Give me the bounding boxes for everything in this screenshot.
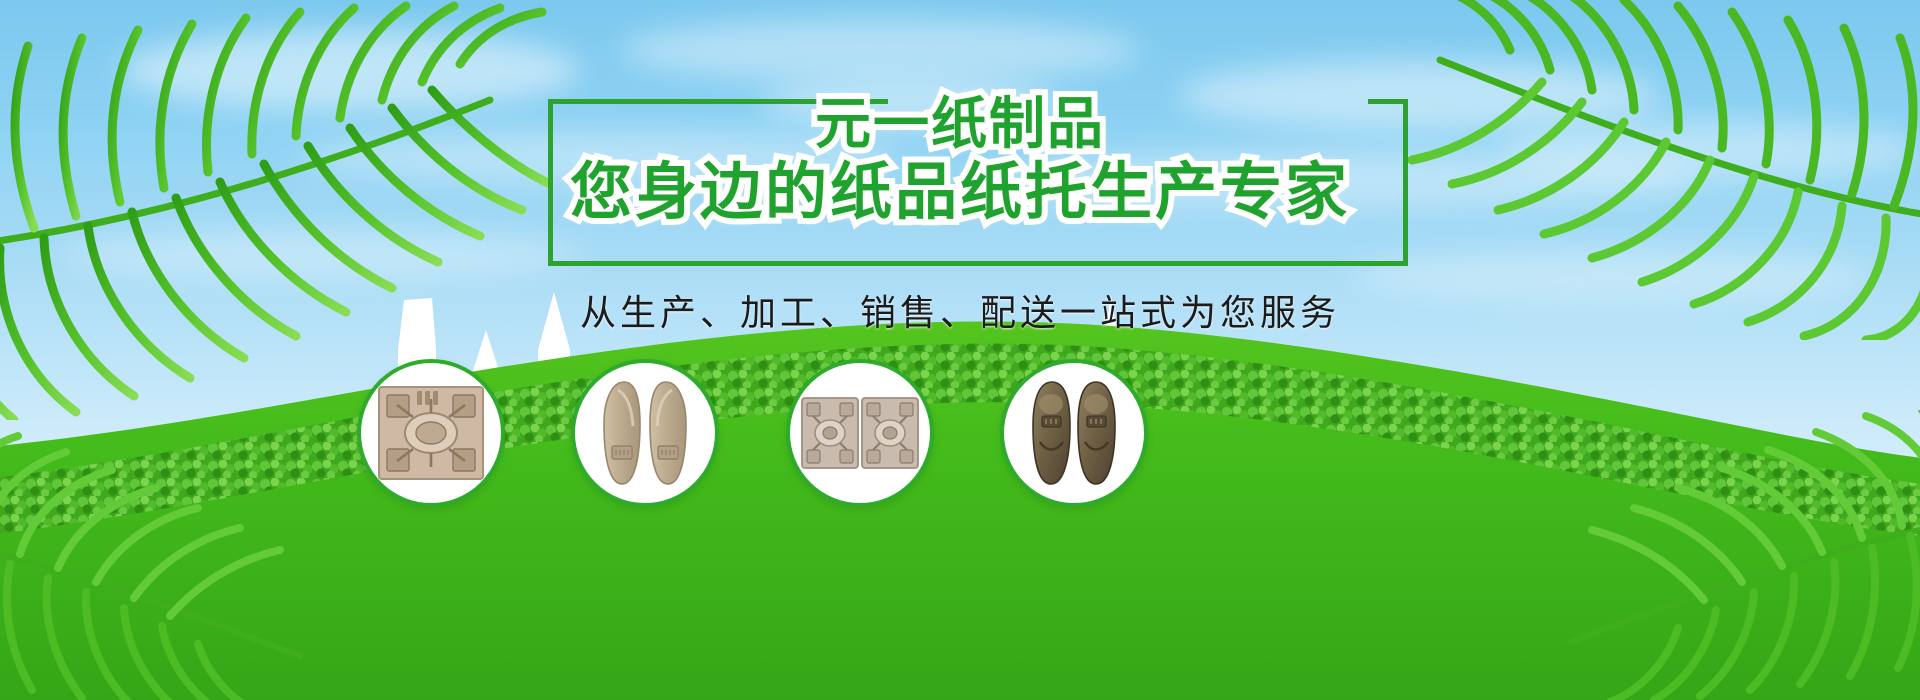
- product-circle-molded-pulp-shoe-tree-dark[interactable]: [1000, 359, 1148, 507]
- headline-block: 元一纸制品 您身边的纸品纸托生产专家 从生产、加工、销售、配送一站式为您服务: [0, 0, 1920, 330]
- molded-pulp-double-tray-icon: [801, 392, 919, 474]
- headline-text: 您身边的纸品纸托生产专家: [0, 162, 1920, 224]
- green-hill: [0, 280, 1920, 700]
- product-circle-molded-pulp-shoe-tree-light[interactable]: [571, 359, 719, 507]
- product-circle-molded-pulp-square-tray[interactable]: [357, 359, 505, 507]
- title-stack: 元一纸制品 您身边的纸品纸托生产专家: [0, 96, 1920, 224]
- product-circle-molded-pulp-double-tray[interactable]: [786, 359, 934, 507]
- promo-banner: 元一纸制品 您身边的纸品纸托生产专家 从生产、加工、销售、配送一站式为您服务: [0, 0, 1920, 700]
- subtitle-text: 从生产、加工、销售、配送一站式为您服务: [0, 284, 1920, 336]
- molded-pulp-shoe-tree-light-icon: [594, 374, 696, 492]
- molded-pulp-shoe-tree-dark-icon: [1022, 374, 1126, 492]
- molded-pulp-square-tray-icon: [377, 385, 485, 481]
- brand-name: 元一纸制品: [0, 96, 1920, 152]
